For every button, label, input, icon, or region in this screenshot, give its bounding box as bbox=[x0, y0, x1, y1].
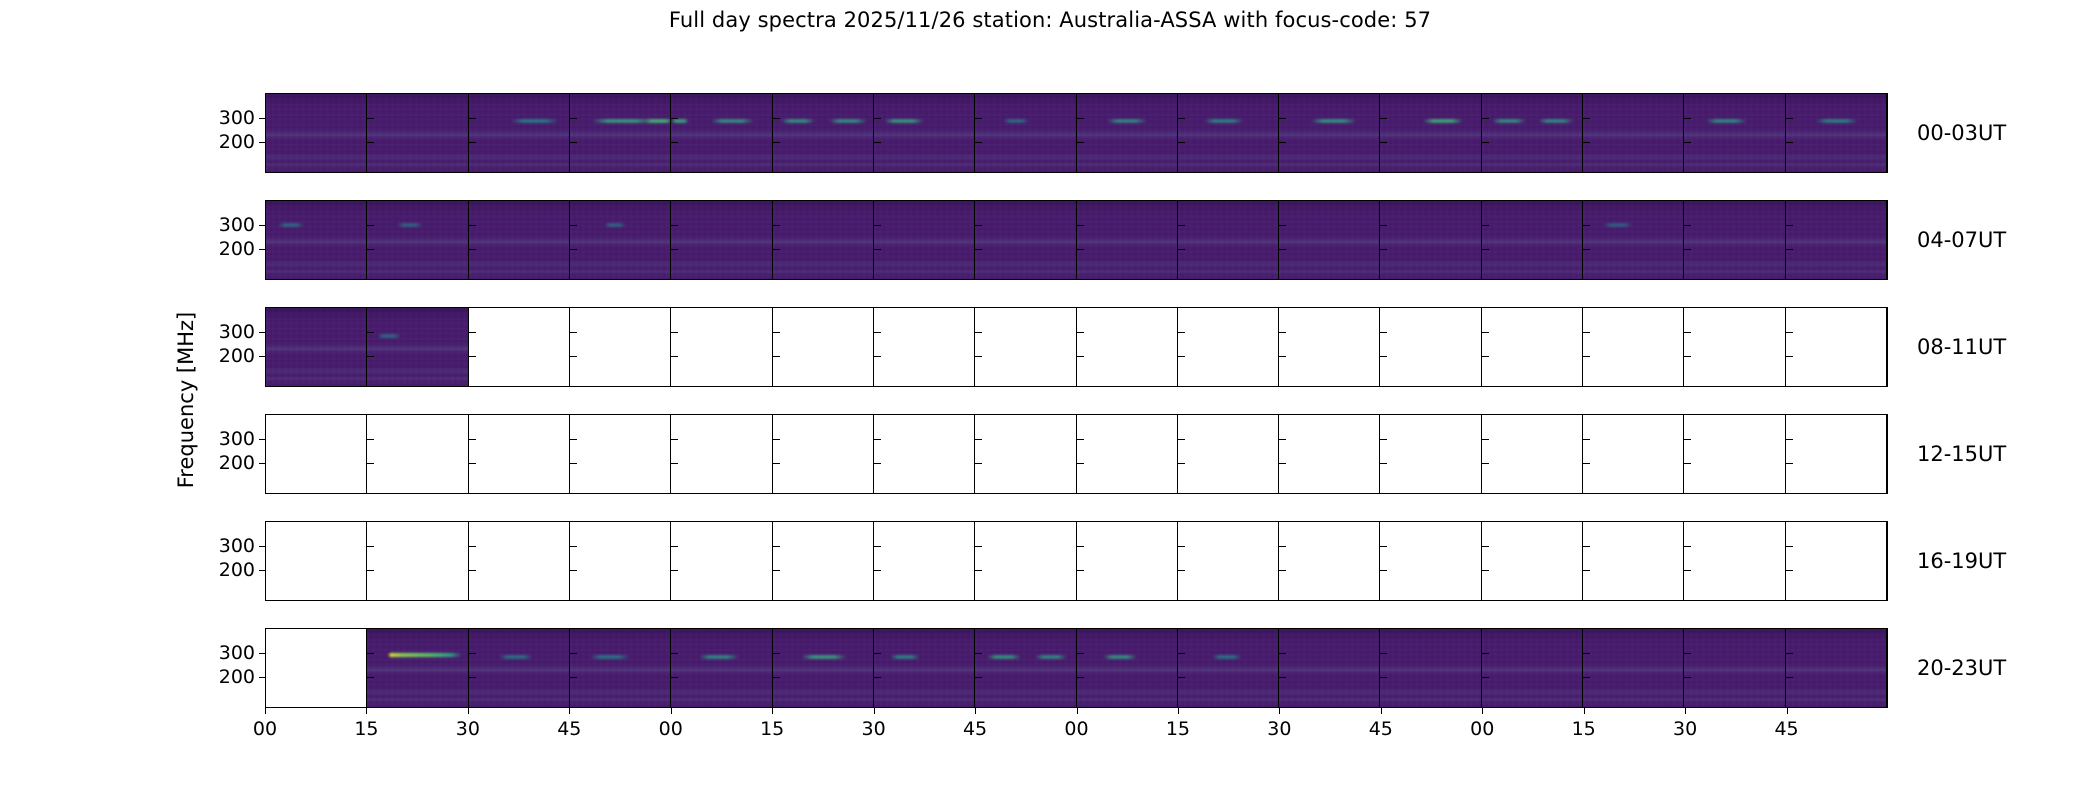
y-tick-label: 300 bbox=[219, 535, 255, 557]
spectrogram-texture bbox=[367, 201, 467, 279]
spectrogram-texture bbox=[1077, 629, 1177, 707]
spectrogram-texture bbox=[1786, 94, 1886, 172]
spectrogram-texture bbox=[367, 629, 467, 707]
y-tick-mark bbox=[1380, 118, 1387, 119]
spectrogram-texture bbox=[469, 201, 569, 279]
y-tick-mark bbox=[469, 653, 476, 654]
spectrogram-texture bbox=[1178, 201, 1278, 279]
emission-streak bbox=[592, 119, 654, 123]
y-tick-mark bbox=[1279, 118, 1286, 119]
spectrogram-texture bbox=[1380, 201, 1480, 279]
spectrogram-panel bbox=[1482, 94, 1583, 172]
y-tick-mark bbox=[1583, 142, 1590, 143]
spectrogram-row: 30020000-03UT bbox=[265, 93, 1888, 173]
spectrogram-texture bbox=[469, 201, 569, 279]
spectrogram-panel bbox=[671, 415, 772, 493]
y-tick-mark bbox=[1583, 677, 1590, 678]
spectrogram-panel bbox=[469, 522, 570, 600]
x-tick-label: 00 bbox=[659, 718, 683, 740]
x-tick-mark bbox=[1482, 708, 1483, 714]
x-tick-mark bbox=[874, 708, 875, 714]
spectrogram-texture bbox=[469, 629, 569, 707]
spectrogram-panel bbox=[975, 308, 1076, 386]
spectrogram-texture bbox=[1583, 629, 1683, 707]
spectrogram-texture bbox=[1482, 201, 1582, 279]
y-tick-mark bbox=[1077, 332, 1084, 333]
spectrogram-panel bbox=[1786, 308, 1887, 386]
spectrogram-texture bbox=[266, 94, 366, 172]
y-tick-mark bbox=[1380, 142, 1387, 143]
y-tick-mark bbox=[259, 677, 266, 678]
y-tick-mark bbox=[1380, 463, 1387, 464]
spectrogram-texture bbox=[1684, 94, 1784, 172]
spectrogram-texture bbox=[266, 308, 366, 386]
y-tick-mark bbox=[469, 356, 476, 357]
y-tick-mark bbox=[1684, 356, 1691, 357]
y-tick-mark bbox=[1482, 142, 1489, 143]
y-tick-mark bbox=[1279, 463, 1286, 464]
spectrogram-texture bbox=[975, 201, 1075, 279]
y-tick-mark bbox=[1178, 332, 1185, 333]
spectrogram-panel bbox=[1178, 201, 1279, 279]
spectrogram-panel bbox=[1279, 201, 1380, 279]
y-tick-mark bbox=[1380, 570, 1387, 571]
spectrogram-texture bbox=[1684, 94, 1784, 172]
spectrogram-texture bbox=[1786, 201, 1886, 279]
y-tick-mark bbox=[1279, 142, 1286, 143]
y-tick-mark bbox=[1684, 570, 1691, 571]
spectrogram-panel bbox=[975, 629, 1076, 707]
y-tick-mark bbox=[1279, 356, 1286, 357]
row-time-label: 00-03UT bbox=[1917, 121, 2006, 145]
spectrogram-panel bbox=[1684, 94, 1785, 172]
y-tick-mark bbox=[1684, 225, 1691, 226]
spectrogram-texture bbox=[1482, 201, 1582, 279]
y-tick-mark bbox=[1178, 225, 1185, 226]
spectrogram-panel bbox=[570, 94, 671, 172]
spectrogram-texture bbox=[570, 201, 670, 279]
row-time-label: 04-07UT bbox=[1917, 228, 2006, 252]
x-tick-label: 30 bbox=[456, 718, 480, 740]
spectrogram-texture bbox=[1077, 629, 1177, 707]
spectrogram-panel bbox=[570, 201, 671, 279]
y-tick-mark bbox=[469, 570, 476, 571]
row-time-label: 20-23UT bbox=[1917, 656, 2006, 680]
spectrogram-texture bbox=[874, 629, 974, 707]
spectrogram-panel bbox=[671, 94, 772, 172]
emission-streak bbox=[1103, 655, 1137, 659]
spectrogram-panel bbox=[1077, 94, 1178, 172]
spectrogram-texture bbox=[266, 94, 366, 172]
spectrogram-texture bbox=[975, 201, 1075, 279]
y-tick-mark bbox=[1583, 570, 1590, 571]
spectrogram-texture bbox=[874, 94, 974, 172]
spectrogram-panel bbox=[469, 308, 570, 386]
y-tick-mark bbox=[1786, 225, 1793, 226]
emission-streak bbox=[890, 655, 920, 659]
spectrogram-texture bbox=[1077, 94, 1177, 172]
y-tick-mark bbox=[874, 570, 881, 571]
spectrogram-texture bbox=[570, 94, 670, 172]
y-tick-mark bbox=[874, 439, 881, 440]
y-tick-mark bbox=[874, 677, 881, 678]
y-tick-mark bbox=[1786, 356, 1793, 357]
spectrogram-texture bbox=[1279, 201, 1379, 279]
y-tick-mark bbox=[367, 653, 374, 654]
spectrogram-texture bbox=[975, 629, 1075, 707]
y-tick-mark bbox=[773, 463, 780, 464]
emission-streak bbox=[1212, 655, 1242, 659]
spectrogram-texture bbox=[671, 201, 771, 279]
y-tick-mark bbox=[570, 118, 577, 119]
spectrogram-panel bbox=[1786, 415, 1887, 493]
spectrogram-texture bbox=[975, 629, 1075, 707]
y-tick-mark bbox=[874, 653, 881, 654]
y-tick-mark bbox=[671, 653, 678, 654]
spectrogram-texture bbox=[1178, 629, 1278, 707]
spectrogram-panel bbox=[1380, 415, 1481, 493]
y-tick-mark bbox=[1380, 356, 1387, 357]
spectrogram-texture bbox=[1077, 201, 1177, 279]
x-tick-label: 15 bbox=[354, 718, 378, 740]
spectrogram-texture bbox=[1380, 201, 1480, 279]
y-tick-mark bbox=[1684, 118, 1691, 119]
y-tick-mark bbox=[1077, 463, 1084, 464]
spectrogram-panel bbox=[1279, 522, 1380, 600]
spectrogram-panel bbox=[773, 308, 874, 386]
spectrogram-texture bbox=[1684, 629, 1784, 707]
spectrogram-texture bbox=[1482, 94, 1582, 172]
y-tick-mark bbox=[1482, 463, 1489, 464]
y-tick-mark bbox=[469, 142, 476, 143]
spectrogram-row: 30020020-23UT bbox=[265, 628, 1888, 708]
emission-streak bbox=[829, 119, 867, 123]
spectrogram-panel bbox=[469, 201, 570, 279]
spectrogram-texture bbox=[671, 201, 771, 279]
x-tick-label: 15 bbox=[1572, 718, 1596, 740]
y-tick-mark bbox=[1482, 653, 1489, 654]
spectrogram-texture bbox=[1684, 629, 1784, 707]
spectrogram-texture bbox=[1786, 94, 1886, 172]
y-tick-mark bbox=[773, 225, 780, 226]
y-tick-mark bbox=[1786, 677, 1793, 678]
spectrogram-texture bbox=[1178, 629, 1278, 707]
spectrogram-texture bbox=[570, 629, 670, 707]
spectrogram-texture bbox=[367, 308, 467, 386]
y-tick-mark bbox=[671, 570, 678, 571]
x-tick-mark bbox=[569, 708, 570, 714]
spectrogram-texture bbox=[1684, 94, 1784, 172]
spectrogram-texture bbox=[469, 201, 569, 279]
spectrogram-texture bbox=[1279, 629, 1379, 707]
spectrogram-texture bbox=[975, 629, 1075, 707]
spectrogram-panel bbox=[671, 629, 772, 707]
x-axis: 00153045001530450015304500153045 bbox=[265, 708, 1888, 748]
y-tick-mark bbox=[1380, 249, 1387, 250]
spectrogram-texture bbox=[975, 94, 1075, 172]
y-tick-mark bbox=[975, 142, 982, 143]
emission-streak bbox=[1204, 119, 1244, 123]
spectrogram-panel bbox=[773, 629, 874, 707]
y-tick-mark bbox=[1482, 249, 1489, 250]
y-tick-mark bbox=[570, 225, 577, 226]
y-tick-mark bbox=[1077, 439, 1084, 440]
spectrogram-texture bbox=[1380, 94, 1480, 172]
spectrogram-texture bbox=[1684, 201, 1784, 279]
radio-burst bbox=[389, 653, 461, 657]
spectrogram-texture bbox=[975, 94, 1075, 172]
spectrogram-texture bbox=[1178, 629, 1278, 707]
spectrogram-panel bbox=[266, 94, 367, 172]
spectrogram-texture bbox=[671, 629, 771, 707]
y-tick-mark bbox=[367, 142, 374, 143]
y-tick-mark bbox=[367, 332, 374, 333]
spectrogram-texture bbox=[1178, 94, 1278, 172]
spectrogram-panel bbox=[874, 94, 975, 172]
y-tick-mark bbox=[1583, 249, 1590, 250]
spectrogram-texture bbox=[975, 94, 1075, 172]
spectrogram-panel bbox=[1077, 522, 1178, 600]
x-tick-mark bbox=[671, 708, 672, 714]
y-tick-mark bbox=[1482, 356, 1489, 357]
spectrogram-panel bbox=[975, 201, 1076, 279]
y-tick-label: 200 bbox=[219, 131, 255, 153]
page-title: Full day spectra 2025/11/26 station: Aus… bbox=[0, 8, 2100, 32]
y-tick-mark bbox=[259, 463, 266, 464]
spectrogram-panel bbox=[874, 522, 975, 600]
spectrogram-texture bbox=[1583, 94, 1683, 172]
spectrogram-texture bbox=[1684, 629, 1784, 707]
y-tick-mark bbox=[1178, 118, 1185, 119]
spectrogram-panel bbox=[1482, 522, 1583, 600]
y-tick-mark bbox=[874, 249, 881, 250]
spectrogram-texture bbox=[1786, 201, 1886, 279]
spectrogram-texture bbox=[367, 308, 467, 386]
spectrogram-texture bbox=[469, 629, 569, 707]
emission-streak bbox=[781, 119, 815, 123]
y-tick-mark bbox=[259, 653, 266, 654]
spectrogram-row: 30020016-19UT bbox=[265, 521, 1888, 601]
spectrogram-texture bbox=[671, 94, 771, 172]
spectrogram-texture bbox=[773, 94, 873, 172]
y-tick-mark bbox=[1583, 356, 1590, 357]
spectrogram-texture bbox=[773, 201, 873, 279]
y-tick-mark bbox=[1583, 439, 1590, 440]
spectrogram-texture bbox=[1684, 94, 1784, 172]
spectrogram-texture bbox=[1583, 201, 1683, 279]
y-tick-mark bbox=[1583, 118, 1590, 119]
y-tick-mark bbox=[1178, 653, 1185, 654]
spectrogram-panel bbox=[1786, 94, 1887, 172]
spectrogram-texture bbox=[1684, 201, 1784, 279]
y-tick-mark bbox=[671, 225, 678, 226]
spectrogram-texture bbox=[1077, 94, 1177, 172]
y-tick-mark bbox=[773, 439, 780, 440]
spectrogram-texture bbox=[671, 629, 771, 707]
y-tick-mark bbox=[1178, 570, 1185, 571]
y-tick-mark bbox=[259, 249, 266, 250]
spectrogram-texture bbox=[1279, 629, 1379, 707]
spectrogram-texture bbox=[874, 629, 974, 707]
y-tick-mark bbox=[1583, 463, 1590, 464]
spectrogram-texture bbox=[874, 94, 974, 172]
y-tick-mark bbox=[975, 332, 982, 333]
y-tick-mark bbox=[1583, 653, 1590, 654]
spectrogram-panel bbox=[1482, 308, 1583, 386]
y-tick-mark bbox=[570, 546, 577, 547]
spectrogram-texture bbox=[1279, 94, 1379, 172]
spectrogram-texture bbox=[367, 94, 467, 172]
spectrogram-texture bbox=[1786, 94, 1886, 172]
spectrogram-texture bbox=[1786, 201, 1886, 279]
spectrogram-texture bbox=[1279, 94, 1379, 172]
spectrogram-texture bbox=[367, 94, 467, 172]
y-tick-mark bbox=[874, 142, 881, 143]
spectrogram-texture bbox=[1482, 629, 1582, 707]
y-tick-mark bbox=[773, 677, 780, 678]
y-tick-mark bbox=[1279, 677, 1286, 678]
spectrogram-texture bbox=[1684, 629, 1784, 707]
emission-streak bbox=[1706, 119, 1746, 123]
y-tick-label: 200 bbox=[219, 345, 255, 367]
spectrogram-panel bbox=[469, 415, 570, 493]
spectrogram-panel bbox=[1178, 415, 1279, 493]
spectrogram-panel bbox=[1482, 415, 1583, 493]
row-time-label: 08-11UT bbox=[1917, 335, 2006, 359]
y-tick-mark bbox=[1077, 546, 1084, 547]
spectrogram-texture bbox=[266, 201, 366, 279]
spectrogram-texture bbox=[1583, 201, 1683, 279]
y-tick-mark bbox=[1786, 142, 1793, 143]
y-tick-mark bbox=[671, 118, 678, 119]
spectrogram-texture bbox=[266, 94, 366, 172]
spectrogram-panel bbox=[1380, 629, 1481, 707]
spectrogram-texture bbox=[975, 201, 1075, 279]
spectrogram-grid: 30020000-03UT30020004-07UT30020008-11UT3… bbox=[265, 93, 1888, 708]
y-tick-label: 300 bbox=[219, 428, 255, 450]
spectrogram-panel bbox=[1279, 629, 1380, 707]
y-tick-mark bbox=[1583, 332, 1590, 333]
y-tick-mark bbox=[570, 653, 577, 654]
y-tick-label: 200 bbox=[219, 666, 255, 688]
y-tick-label: 300 bbox=[219, 321, 255, 343]
y-tick-mark bbox=[1077, 118, 1084, 119]
spectrogram-texture bbox=[1279, 94, 1379, 172]
spectrogram-texture bbox=[874, 94, 974, 172]
spectrogram-texture bbox=[367, 308, 467, 386]
spectrogram-texture bbox=[570, 94, 670, 172]
y-tick-mark bbox=[259, 332, 266, 333]
spectrogram-texture bbox=[1279, 94, 1379, 172]
y-tick-mark bbox=[773, 332, 780, 333]
spectrogram-texture bbox=[1482, 629, 1582, 707]
y-tick-mark bbox=[469, 546, 476, 547]
x-tick-mark bbox=[1381, 708, 1382, 714]
y-tick-mark bbox=[1786, 463, 1793, 464]
y-tick-mark bbox=[1583, 546, 1590, 547]
spectrogram-panel bbox=[1583, 415, 1684, 493]
x-tick-mark bbox=[1584, 708, 1585, 714]
y-tick-mark bbox=[1279, 570, 1286, 571]
spectrogram-panel bbox=[266, 415, 367, 493]
spectrogram-panel bbox=[773, 201, 874, 279]
y-tick-mark bbox=[773, 546, 780, 547]
spectrogram-texture bbox=[1583, 201, 1683, 279]
spectrogram-texture bbox=[1482, 94, 1582, 172]
x-tick-mark bbox=[1279, 708, 1280, 714]
spectrogram-row: 30020012-15UT bbox=[265, 414, 1888, 494]
spectrogram-texture bbox=[1380, 94, 1480, 172]
y-tick-mark bbox=[1684, 142, 1691, 143]
spectrogram-texture bbox=[1279, 201, 1379, 279]
y-tick-mark bbox=[773, 653, 780, 654]
y-tick-mark bbox=[367, 356, 374, 357]
spectrogram-texture bbox=[367, 629, 467, 707]
spectrogram-texture bbox=[773, 629, 873, 707]
spectrogram-texture bbox=[266, 201, 366, 279]
spectrogram-panel bbox=[874, 415, 975, 493]
emission-streak bbox=[590, 655, 630, 659]
spectrogram-row: 30020004-07UT bbox=[265, 200, 1888, 280]
y-tick-mark bbox=[874, 463, 881, 464]
spectrogram-texture bbox=[671, 201, 771, 279]
x-tick-label: 00 bbox=[1470, 718, 1494, 740]
x-tick-mark bbox=[772, 708, 773, 714]
emission-streak bbox=[1035, 655, 1067, 659]
spectrogram-texture bbox=[975, 629, 1075, 707]
spectrogram-texture bbox=[570, 94, 670, 172]
spectrogram-texture bbox=[874, 201, 974, 279]
spectrogram-texture bbox=[1786, 94, 1886, 172]
spectrogram-texture bbox=[1380, 94, 1480, 172]
y-tick-mark bbox=[469, 439, 476, 440]
spectrogram-texture bbox=[367, 94, 467, 172]
y-tick-mark bbox=[1178, 356, 1185, 357]
emission-streak bbox=[1603, 223, 1633, 227]
y-tick-mark bbox=[975, 546, 982, 547]
y-tick-mark bbox=[671, 332, 678, 333]
spectrogram-texture bbox=[1178, 201, 1278, 279]
spectrogram-texture bbox=[1380, 201, 1480, 279]
spectrogram-texture bbox=[367, 94, 467, 172]
spectrogram-panel bbox=[367, 201, 468, 279]
spectrogram-texture bbox=[1482, 201, 1582, 279]
emission-streak bbox=[278, 223, 304, 227]
x-tick-label: 30 bbox=[862, 718, 886, 740]
y-tick-mark bbox=[1077, 677, 1084, 678]
spectrogram-panel bbox=[874, 201, 975, 279]
spectrogram-texture bbox=[1279, 201, 1379, 279]
y-tick-mark bbox=[874, 332, 881, 333]
row-time-label: 12-15UT bbox=[1917, 442, 2006, 466]
y-tick-mark bbox=[1482, 225, 1489, 226]
spectrogram-texture bbox=[570, 629, 670, 707]
spectrogram-texture bbox=[1178, 629, 1278, 707]
spectrogram-texture bbox=[773, 201, 873, 279]
spectrogram-panel bbox=[975, 94, 1076, 172]
y-tick-mark bbox=[773, 142, 780, 143]
spectrogram-panel bbox=[975, 522, 1076, 600]
spectrogram-texture bbox=[469, 94, 569, 172]
x-tick-mark bbox=[1178, 708, 1179, 714]
spectrogram-texture bbox=[773, 94, 873, 172]
y-tick-mark bbox=[1380, 653, 1387, 654]
y-tick-mark bbox=[367, 249, 374, 250]
spectrogram-texture bbox=[874, 201, 974, 279]
y-tick-mark bbox=[1279, 653, 1286, 654]
spectrogram-texture bbox=[1178, 94, 1278, 172]
y-tick-mark bbox=[259, 356, 266, 357]
